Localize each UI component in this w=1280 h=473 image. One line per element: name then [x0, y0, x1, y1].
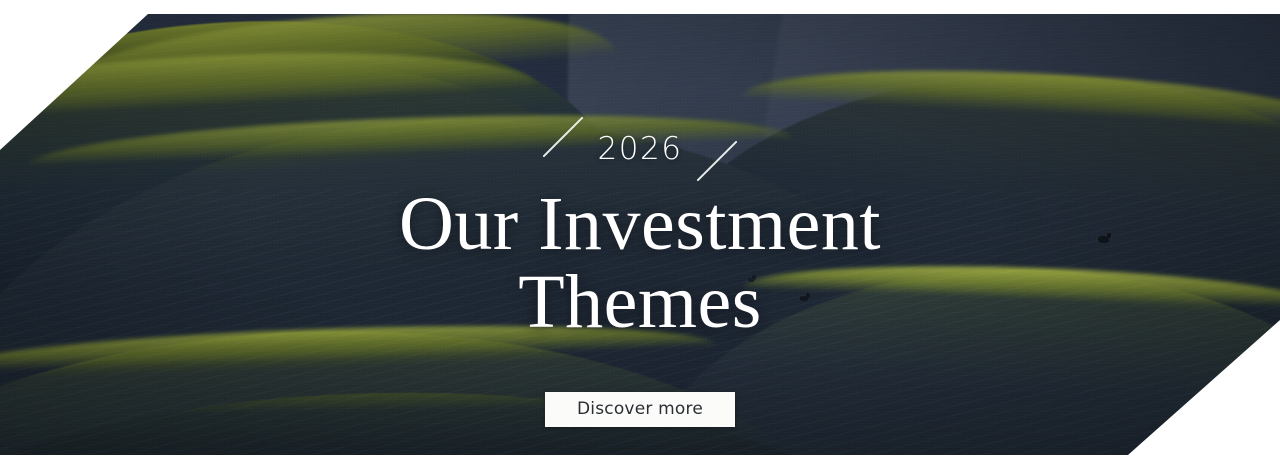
diagonal-slash-left-icon — [542, 116, 583, 157]
banner-content: 2026 Our Investment Themes Discover more — [0, 14, 1280, 455]
headline-line-1: Our Investment — [0, 186, 1280, 264]
hero-banner: 2026 Our Investment Themes Discover more — [0, 14, 1280, 455]
year-label: 2026 — [598, 134, 683, 165]
page-title: Our Investment Themes — [0, 186, 1280, 341]
discover-more-button[interactable]: Discover more — [545, 392, 735, 427]
cta-container: Discover more — [0, 392, 1280, 427]
eyebrow-row: 2026 — [0, 110, 1280, 170]
diagonal-slash-right-icon — [697, 140, 738, 181]
headline-line-2: Themes — [0, 264, 1280, 342]
